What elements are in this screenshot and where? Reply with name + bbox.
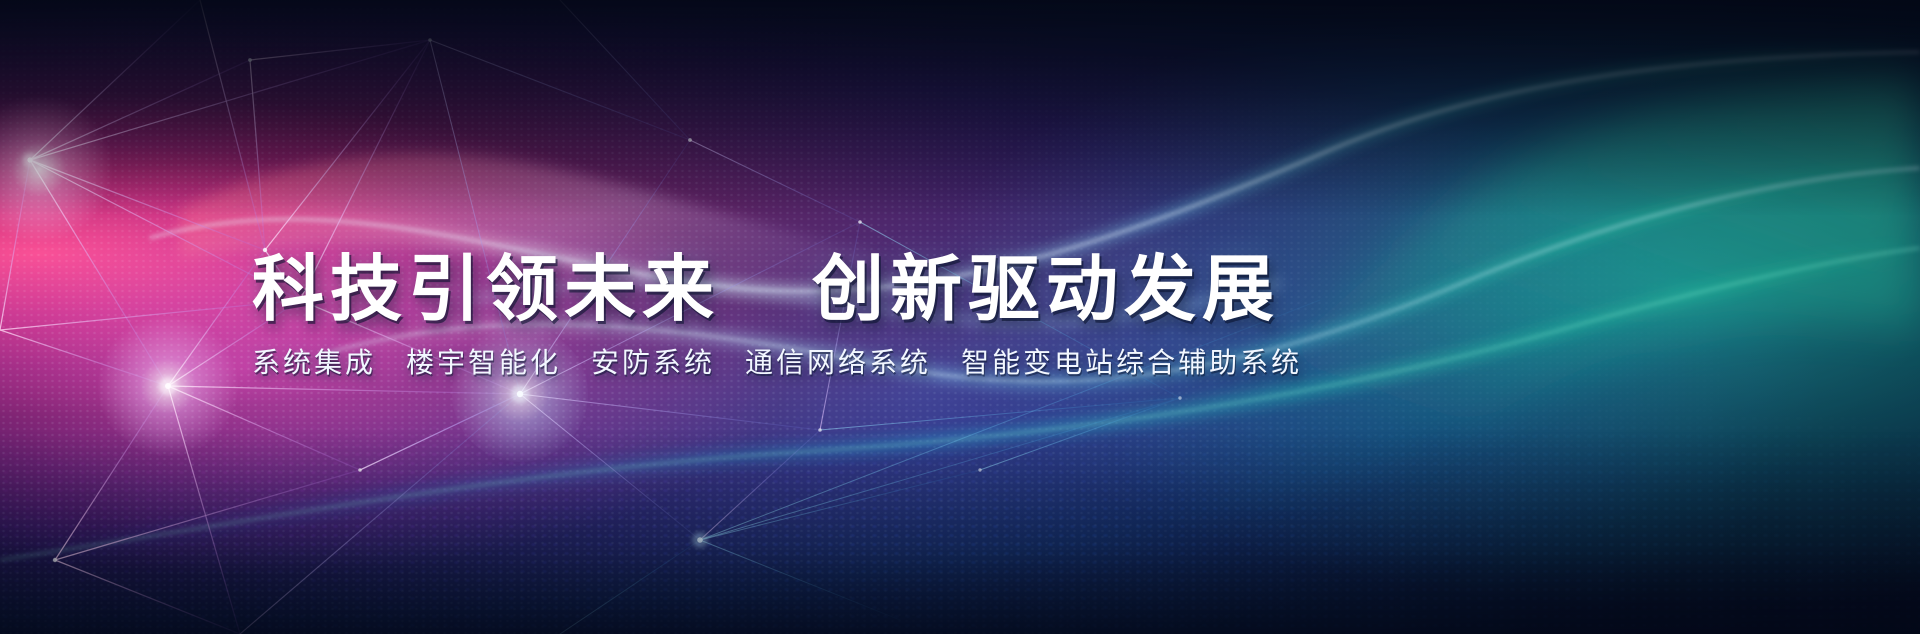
headline-segment-1: 科技引领未来 — [252, 253, 720, 328]
subheadline-keyword-1: 系统集成 — [252, 341, 376, 381]
banner-content: 科技引领未来 创新驱动发展 系统集成 楼宇智能化 安防系统 通信网络系统 智能变… — [0, 0, 1920, 634]
subheadline-keyword-4: 通信网络系统 — [745, 341, 931, 381]
headline-segment-2: 创新驱动发展 — [812, 253, 1280, 328]
subheadline-keyword-3: 安防系统 — [591, 341, 715, 381]
subheadline-keyword-2: 楼宇智能化 — [406, 341, 561, 381]
banner-subheadline: 系统集成 楼宇智能化 安防系统 通信网络系统 智能变电站综合辅助系统 — [252, 341, 1920, 381]
banner-headline: 科技引领未来 创新驱动发展 — [252, 253, 1920, 328]
subheadline-keyword-5: 智能变电站综合辅助系统 — [961, 341, 1302, 381]
tech-banner: 科技引领未来 创新驱动发展 系统集成 楼宇智能化 安防系统 通信网络系统 智能变… — [0, 0, 1920, 634]
